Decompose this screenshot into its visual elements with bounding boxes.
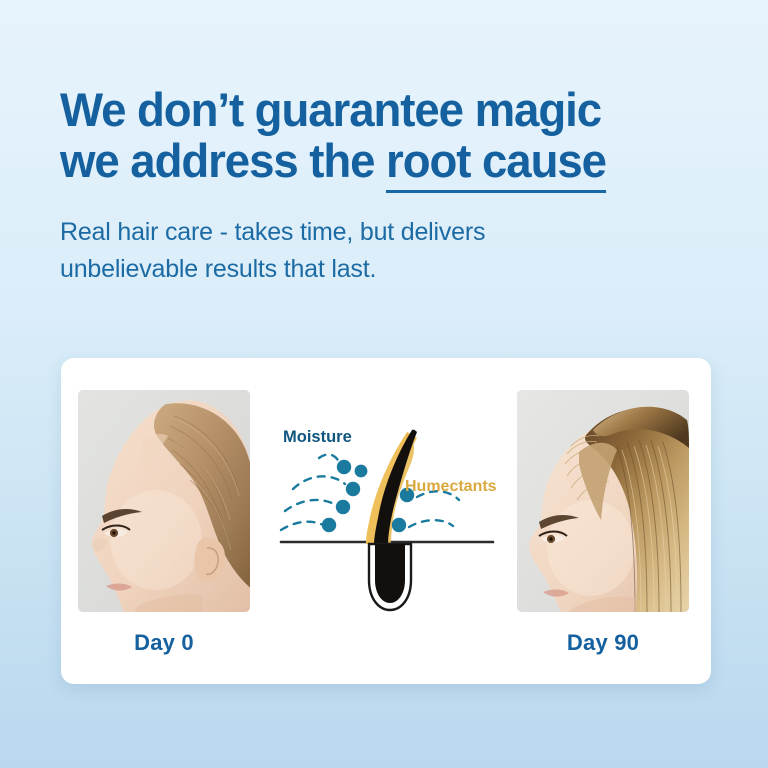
before-panel: Day 0 [78,390,250,656]
before-photo [78,390,250,612]
after-photo [517,390,689,612]
headline-emphasis-root-cause: root cause [386,134,606,193]
subheadline: Real hair care - takes time, but deliver… [60,214,660,288]
before-after-card: Day 0 [61,358,711,684]
subheadline-line-1: Real hair care - takes time, but deliver… [60,218,485,246]
before-caption: Day 0 [78,630,250,656]
humectants-label-text: Humectants [405,478,497,495]
subheadline-line-2: unbelievable results that last. [60,255,376,283]
headline-line-2-prefix: we address the [60,134,386,187]
headline-line-1: We don’t guarantee magic [60,84,720,135]
moisture-label-text: Moisture [283,428,352,446]
promo-poster: We don’t guarantee magic we address the … [0,0,768,768]
after-panel: Day 90 [517,390,689,656]
after-caption: Day 90 [517,630,689,656]
hair-follicle-diagram: Moisture Humectants Moisture Humectants [257,394,517,619]
headline-line-2: we address the root cause [60,135,720,186]
headline-block: We don’t guarantee magic we address the … [60,84,740,186]
